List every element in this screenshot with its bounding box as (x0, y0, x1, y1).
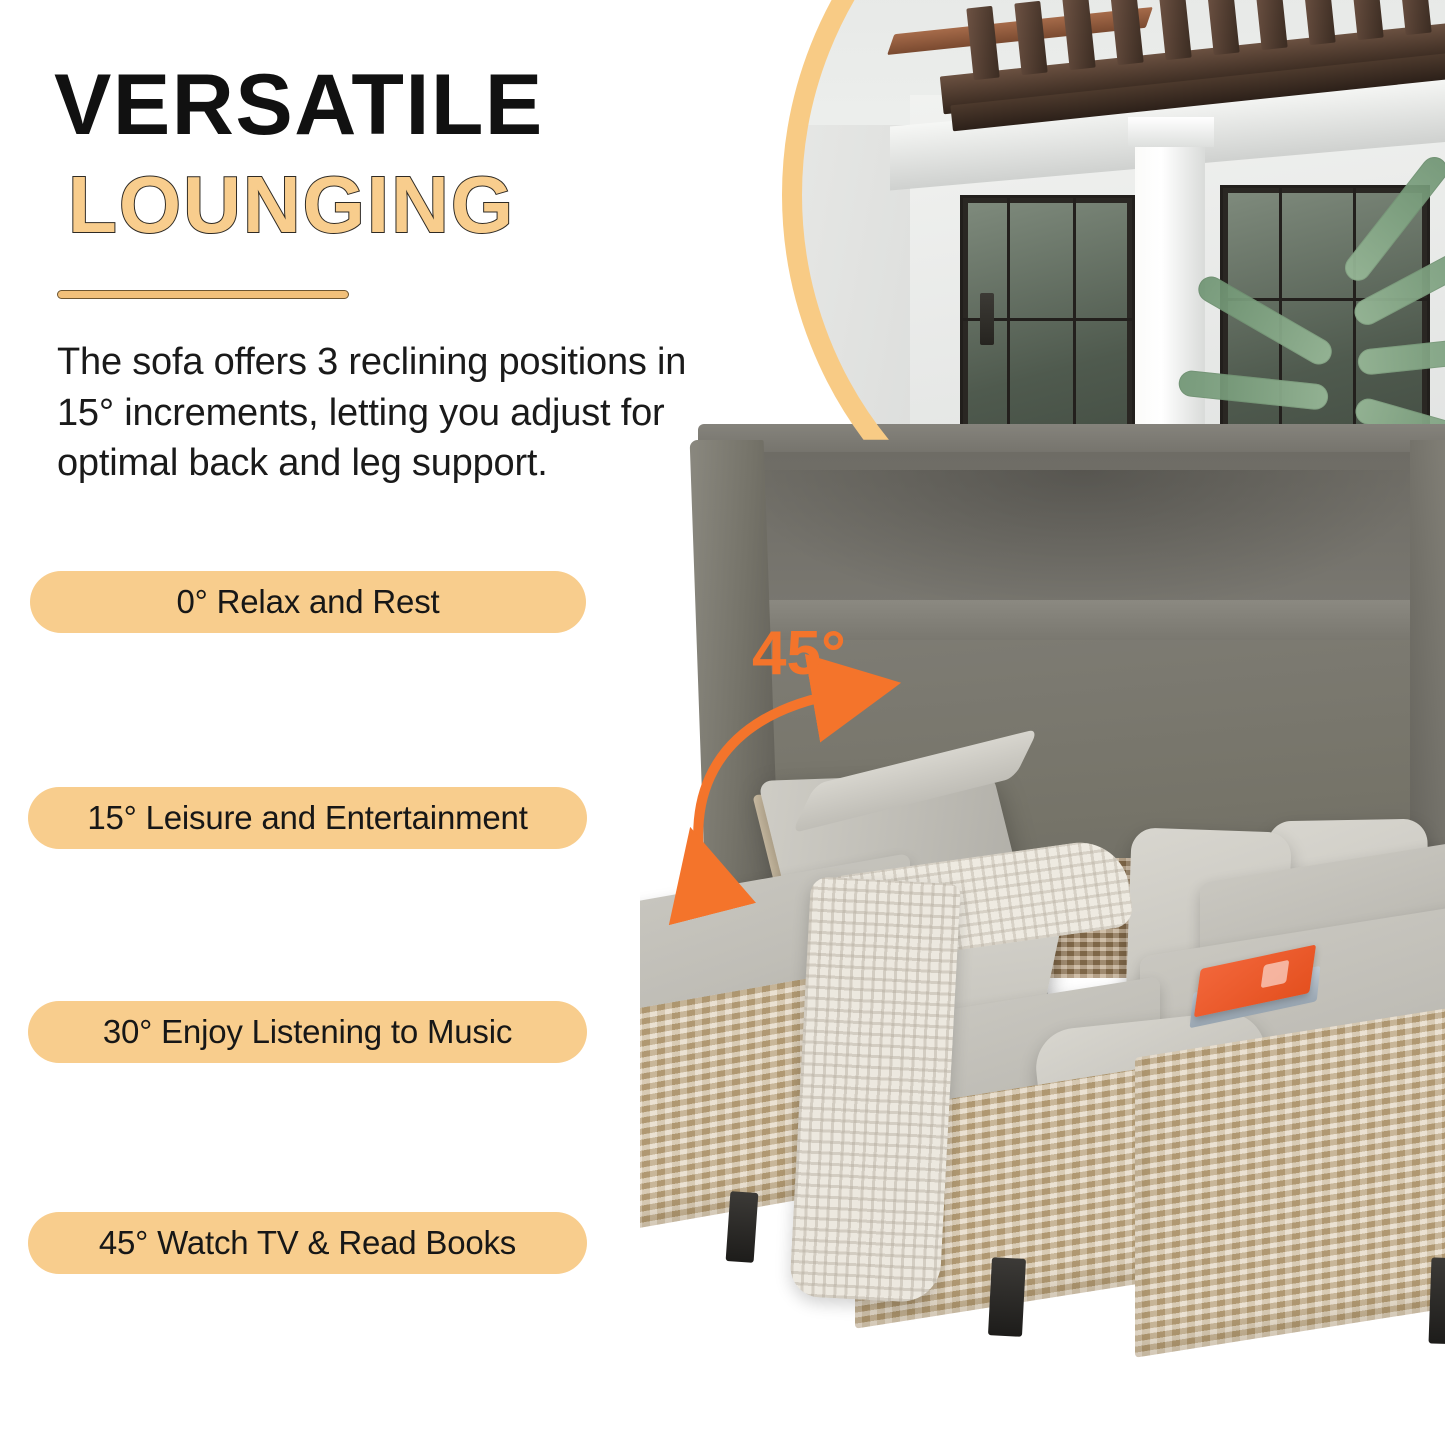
hero-bottom-fade (640, 1385, 1445, 1445)
throw-blanket (789, 876, 961, 1303)
position-pill-1-label: 15° Leisure and Entertainment (87, 799, 527, 837)
position-pill-2: 30° Enjoy Listening to Music (28, 1001, 587, 1063)
headline-primary: VERSATILE (54, 62, 544, 148)
headline-divider (57, 290, 349, 299)
position-pill-2-label: 30° Enjoy Listening to Music (103, 1013, 512, 1051)
canopy-inner-shadow (732, 470, 1432, 620)
sofa-foot (988, 1257, 1026, 1337)
position-pill-3-label: 45° Watch TV & Read Books (99, 1224, 516, 1262)
sofa-foot (1429, 1257, 1445, 1344)
headline-secondary: LOUNGING (68, 165, 515, 245)
position-pill-3: 45° Watch TV & Read Books (28, 1212, 587, 1274)
position-pill-0-label: 0° Relax and Rest (177, 583, 440, 621)
wicker-base (1135, 1002, 1445, 1357)
position-pill-0: 0° Relax and Rest (30, 571, 586, 633)
position-pill-1: 15° Leisure and Entertainment (28, 787, 587, 849)
product-feature-banner: 45° VERSATILE LOUNGING The sofa offers 3… (0, 0, 1445, 1445)
angle-label: 45° (752, 618, 846, 689)
angle-arc-path (698, 693, 842, 885)
feature-description: The sofa offers 3 reclining positions in… (57, 337, 697, 489)
sofa-foot (726, 1191, 759, 1263)
